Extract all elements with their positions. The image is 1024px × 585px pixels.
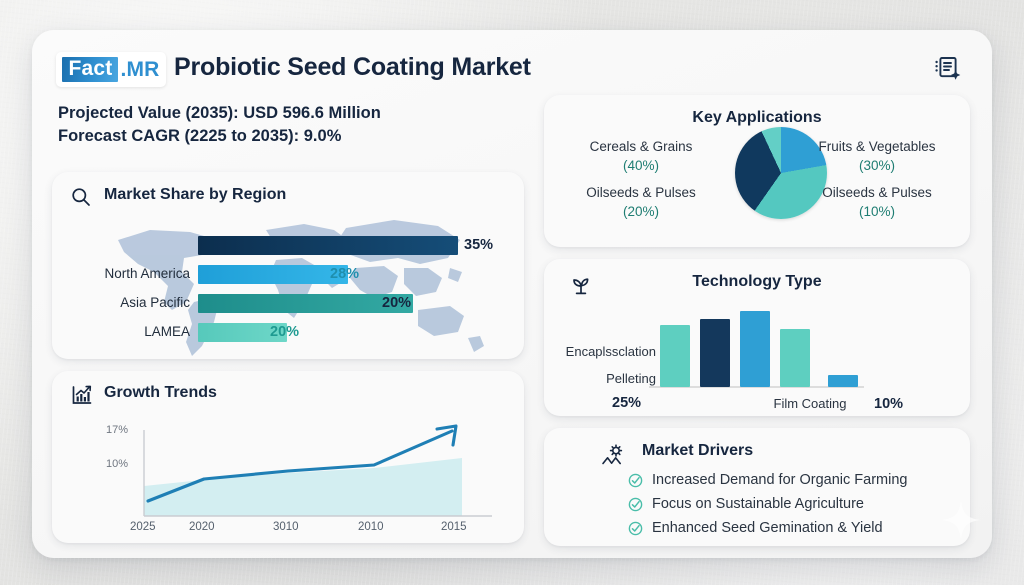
pie-label-oilseeds-left-text: Oilseeds & Pulses	[586, 185, 696, 200]
projected-value-line: Projected Value (2035): USD 596.6 Millio…	[58, 102, 381, 125]
growth-xtick-3: 3010	[273, 521, 299, 533]
tech-value-25: 25%	[612, 395, 641, 411]
market-drivers-card: Market Drivers Increased Demand for Orga…	[544, 428, 970, 546]
region-card-title: Market Share by Region	[104, 186, 286, 204]
region-label-lamea: LAMEA	[60, 324, 190, 339]
tech-bar-4	[780, 329, 810, 387]
driver-label-3: Enhanced Seed Gemination & Yield	[652, 520, 883, 536]
region-bar-value-2: 28%	[330, 266, 359, 282]
apps-card-title: Key Applications	[544, 109, 970, 127]
region-bar-value-1: 35%	[464, 237, 493, 253]
region-label-asia-pacific: Asia Pacific	[60, 295, 190, 310]
report-sparkle-icon[interactable]	[930, 52, 964, 91]
headline-stats: Projected Value (2035): USD 596.6 Millio…	[58, 102, 381, 149]
tech-bar-5	[828, 375, 858, 387]
tech-label-encapsulation: Encaplssclation	[544, 344, 656, 359]
market-share-by-region-card: Market Share by Region	[52, 172, 524, 359]
technology-bar-chart: Encaplssclation Pelleting 25% Film Coati…	[544, 295, 970, 416]
cagr-line: Forecast CAGR (2225 to 2035): 9.0%	[58, 125, 381, 148]
region-bar-chart: 35% 28% 20% 20% North America Asia Pacif…	[52, 214, 524, 359]
growth-xtick-1: 2025	[130, 521, 156, 533]
logo-mr-text: .MR	[120, 58, 159, 82]
pie-label-oilseeds-left: Oilseeds & Pulses (20%)	[566, 183, 716, 221]
driver-label-2: Focus on Sustainable Agriculture	[652, 496, 864, 512]
infographic-card: Fact.MR Probiotic Seed Coating Market Pr…	[32, 30, 992, 558]
pie-label-fruits-pct: (30%)	[859, 158, 895, 173]
pie-label-fruits-text: Fruits & Vegetables	[818, 139, 935, 154]
region-bar-3	[198, 294, 413, 313]
growth-area-chart: 17% 10% 2025 2020 3010 2010 2015	[52, 415, 524, 543]
check-circle-icon	[628, 497, 643, 512]
check-circle-icon	[628, 521, 643, 536]
region-bar-value-4: 20%	[270, 324, 299, 340]
tech-label-film-coating: Film Coating	[750, 396, 870, 411]
pie-label-oilseeds-left-pct: (20%)	[623, 204, 659, 219]
technology-type-card: Technology Type Encaplssclation Pelletin…	[544, 259, 970, 416]
drivers-card-title: Market Drivers	[642, 442, 753, 460]
growth-xtick-5: 2015	[441, 521, 467, 533]
growth-trends-card: Growth Trends 17% 10% 2025 2020 3	[52, 371, 524, 543]
tech-value-10: 10%	[874, 396, 903, 412]
search-icon	[70, 186, 92, 213]
sparkle-decoration	[938, 497, 984, 548]
page-title: Probiotic Seed Coating Market	[174, 53, 531, 82]
region-label-north-america: North America	[60, 266, 190, 281]
tech-bar-3	[740, 311, 770, 387]
gear-mountain-icon	[598, 442, 628, 477]
driver-label-1: Increased Demand for Organic Farming	[652, 472, 907, 488]
tech-bar-2	[700, 319, 730, 387]
pie-label-fruits: Fruits & Vegetables (30%)	[802, 137, 952, 175]
pie-label-cereals-pct: (40%)	[623, 158, 659, 173]
growth-ytick-17: 17%	[106, 424, 128, 436]
tech-bar-1	[660, 325, 690, 387]
check-circle-icon	[628, 473, 643, 488]
growth-card-title: Growth Trends	[104, 384, 217, 402]
growth-ytick-10: 10%	[106, 458, 128, 470]
pie-label-oilseeds-right: Oilseeds & Pulses (10%)	[802, 183, 952, 221]
driver-item-2: Focus on Sustainable Agriculture	[628, 496, 864, 512]
region-bar-value-3: 20%	[382, 295, 411, 311]
pie-label-oilseeds-right-text: Oilseeds & Pulses	[822, 185, 932, 200]
pie-label-cereals: Cereals & Grains (40%)	[566, 137, 716, 175]
pie-label-cereals-text: Cereals & Grains	[590, 139, 693, 154]
pie-label-oilseeds-right-pct: (10%)	[859, 204, 895, 219]
key-applications-card: Key Applications Cereals & Grains (40%) …	[544, 95, 970, 247]
growth-xtick-2: 2020	[189, 521, 215, 533]
infographic-canvas: Fact.MR Probiotic Seed Coating Market Pr…	[0, 0, 1024, 585]
driver-item-3: Enhanced Seed Gemination & Yield	[628, 520, 883, 536]
brand-logo: Fact.MR	[56, 52, 166, 87]
driver-item-1: Increased Demand for Organic Farming	[628, 472, 907, 488]
growth-chart-icon	[70, 383, 94, 412]
tech-card-title: Technology Type	[544, 273, 970, 291]
growth-xtick-4: 2010	[358, 521, 384, 533]
logo-fact-text: Fact	[62, 57, 118, 82]
tech-label-pelleting: Pelleting	[544, 371, 656, 386]
region-bar-1	[198, 236, 458, 255]
region-bar-2	[198, 265, 348, 284]
